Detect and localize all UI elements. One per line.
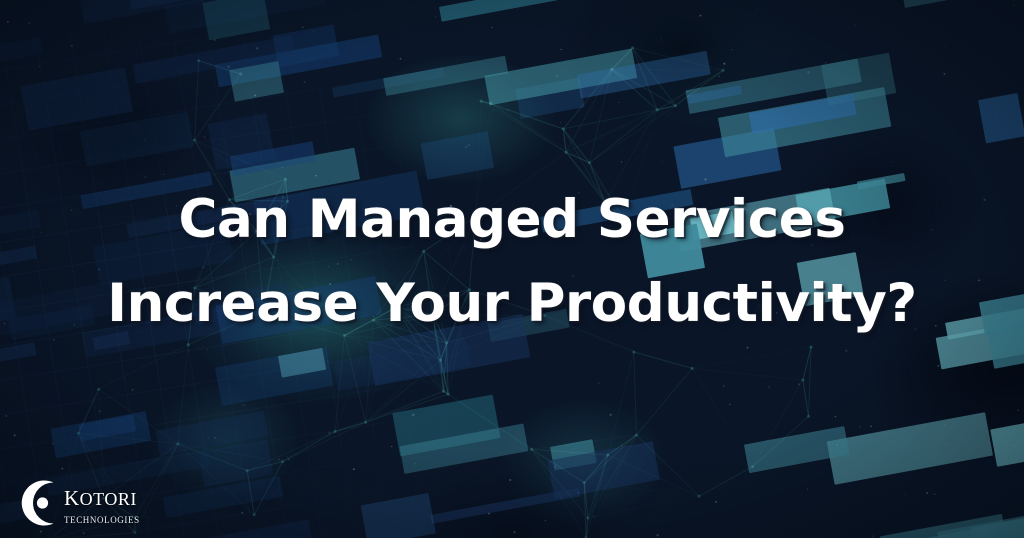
brand-logo[interactable]: Kotori Technologies (12, 476, 140, 530)
headline-line-2: Increase Your Productivity? (40, 262, 984, 346)
crescent-dot-icon (12, 476, 66, 530)
brand-wordmark: Kotori Technologies (64, 481, 140, 526)
blog-banner: Can Managed Services Increase Your Produ… (0, 0, 1024, 538)
brand-tagline: Technologies (64, 513, 140, 526)
headline-block: Can Managed Services Increase Your Produ… (0, 178, 1024, 346)
brand-name: Kotori (64, 481, 140, 511)
headline-line-1: Can Managed Services (40, 178, 984, 262)
